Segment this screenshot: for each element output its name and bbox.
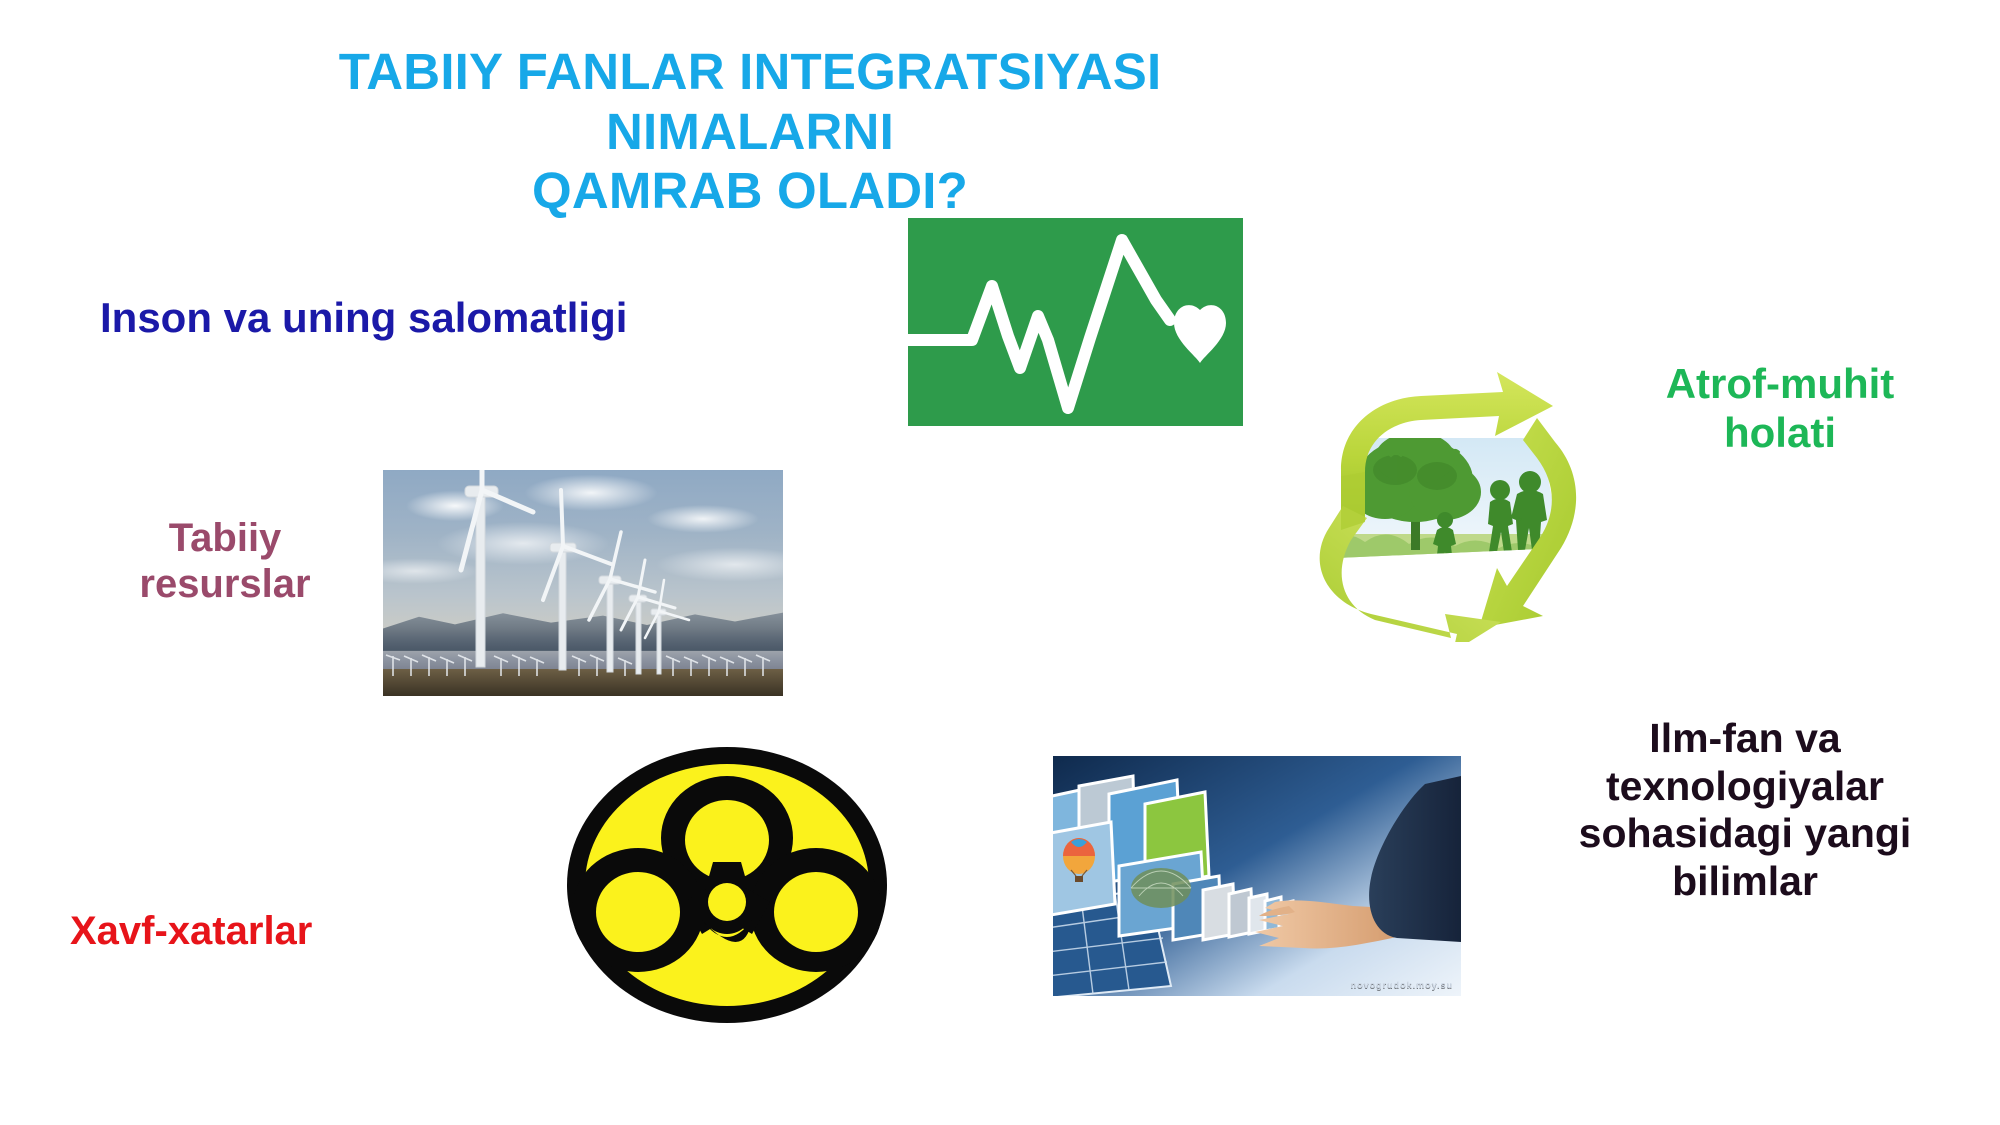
label-science-technology: Ilm-fan va texnologiyalar sohasidagi yan… xyxy=(1495,715,1995,905)
biohazard-icon xyxy=(562,742,892,1029)
wind-turbine-farm-image xyxy=(383,470,783,696)
label-science-technology-line-3: sohasidagi yangi xyxy=(1579,810,1912,856)
page-title-line-1: TABIIY FANLAR INTEGRATSIYASI NIMALARNI xyxy=(200,42,1300,161)
label-human-health: Inson va uning salomatligi xyxy=(100,294,700,343)
label-natural-resources-line-1: Tabiiy xyxy=(169,516,282,560)
floating-photo-panels-icon xyxy=(1053,756,1461,996)
dome-structure xyxy=(1131,868,1191,908)
heartbeat-ekg-image xyxy=(908,218,1243,426)
label-environment-state: Atrof-muhit holati xyxy=(1610,360,1950,457)
label-science-technology-line-2: texnologiyalar xyxy=(1606,763,1884,809)
page-title: TABIIY FANLAR INTEGRATSIYASI NIMALARNI Q… xyxy=(200,42,1300,221)
label-science-technology-line-4: bilimlar xyxy=(1672,858,1818,904)
label-hazards: Xavf-xatarlar xyxy=(70,908,450,954)
label-environment-state-line-2: holati xyxy=(1724,409,1836,456)
label-natural-resources-line-2: resurslar xyxy=(139,562,310,606)
label-environment-state-line-1: Atrof-muhit xyxy=(1666,360,1895,407)
recycling-environment-image xyxy=(1245,352,1645,642)
biohazard-image xyxy=(562,742,892,1029)
label-natural-resources: Tabiiy resurslar xyxy=(90,515,360,608)
heartbeat-ekg-icon xyxy=(908,218,1243,426)
page-title-line-2: QAMRAB OLADI? xyxy=(200,161,1300,221)
recycling-environment-icon xyxy=(1245,352,1645,642)
image-watermark: novogrudok.moy.su xyxy=(1351,980,1453,990)
technology-touchscreen-image: novogrudok.moy.su xyxy=(1053,756,1461,996)
label-hazards-text: Xavf-xatarlar xyxy=(70,909,312,953)
label-science-technology-line-1: Ilm-fan va xyxy=(1649,715,1840,761)
slide-canvas: TABIIY FANLAR INTEGRATSIYASI NIMALARNI Q… xyxy=(0,0,2000,1125)
label-human-health-text: Inson va uning salomatligi xyxy=(100,294,627,341)
wind-turbine-icon xyxy=(383,470,783,696)
